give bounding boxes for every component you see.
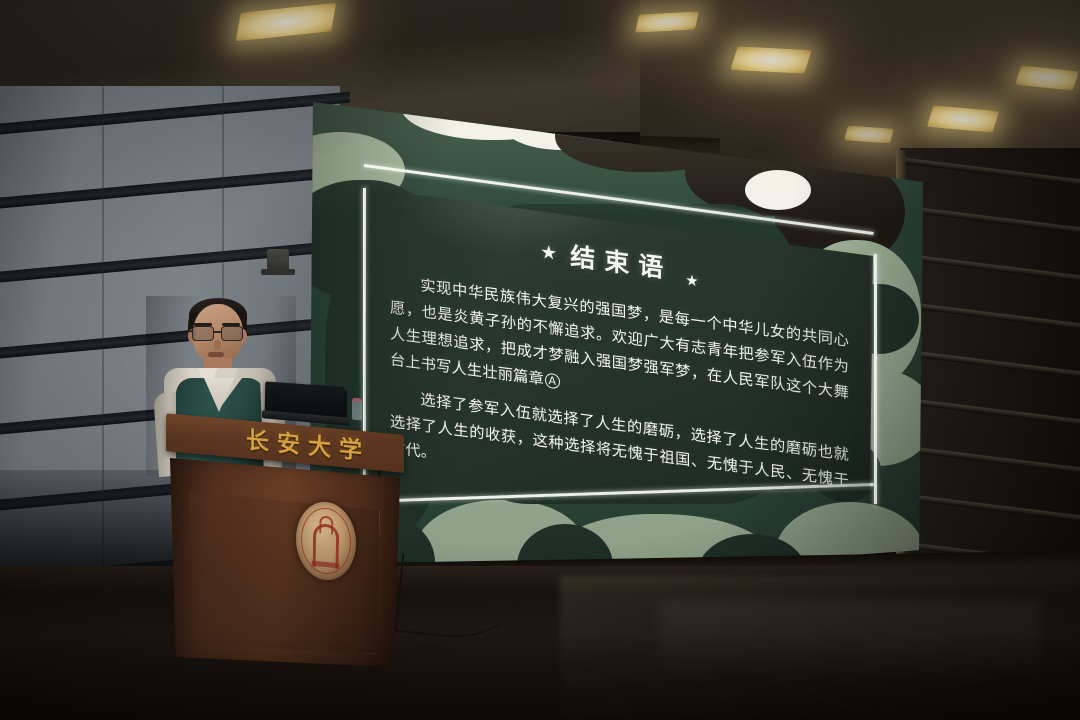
marker-circled-a: A — [545, 372, 560, 389]
mouth — [208, 352, 224, 357]
wall-slat — [900, 301, 1080, 333]
slide-title-text: 结束语 — [570, 242, 672, 284]
slide-border-right — [874, 254, 877, 504]
wall-slat — [900, 493, 1080, 525]
ceiling-light-2 — [730, 46, 811, 74]
wall-slat — [900, 445, 1080, 477]
ceiling-light-3 — [635, 11, 699, 32]
water-bottle — [352, 398, 362, 421]
wall-slat — [900, 205, 1080, 237]
wall-slat — [900, 157, 1080, 189]
wall-groove — [0, 240, 350, 284]
wall-slat — [900, 397, 1080, 429]
wall-mounted-speaker — [267, 249, 289, 273]
nose — [214, 340, 221, 350]
podium-front-panel — [190, 486, 380, 654]
ceiling-light-6 — [844, 126, 894, 144]
lens-left — [192, 326, 214, 341]
wall-groove — [0, 166, 350, 210]
lecture-hall-scene: ★结束语★ 实现中华民族伟大复兴的强国梦，是每一个中华儿女的共同心愿，也是炎黄子… — [0, 0, 1080, 720]
star-icon-right: ★ — [685, 271, 698, 291]
wall-slat — [900, 253, 1080, 285]
glasses-bridge — [214, 331, 222, 333]
slide-body: 实现中华民族伟大复兴的强国梦，是每一个中华儿女的共同心愿，也是炎黄子孙的不懈追求… — [390, 269, 849, 521]
star-icon-left: ★ — [540, 241, 557, 265]
emblem-arch-inner — [319, 515, 333, 534]
floor-reflection — [660, 600, 1040, 710]
lens-right — [221, 326, 243, 341]
right-slatted-wall — [900, 148, 1080, 618]
wall-slat — [900, 349, 1080, 381]
eyeglasses-icon — [190, 326, 246, 341]
wall-groove — [0, 92, 350, 136]
